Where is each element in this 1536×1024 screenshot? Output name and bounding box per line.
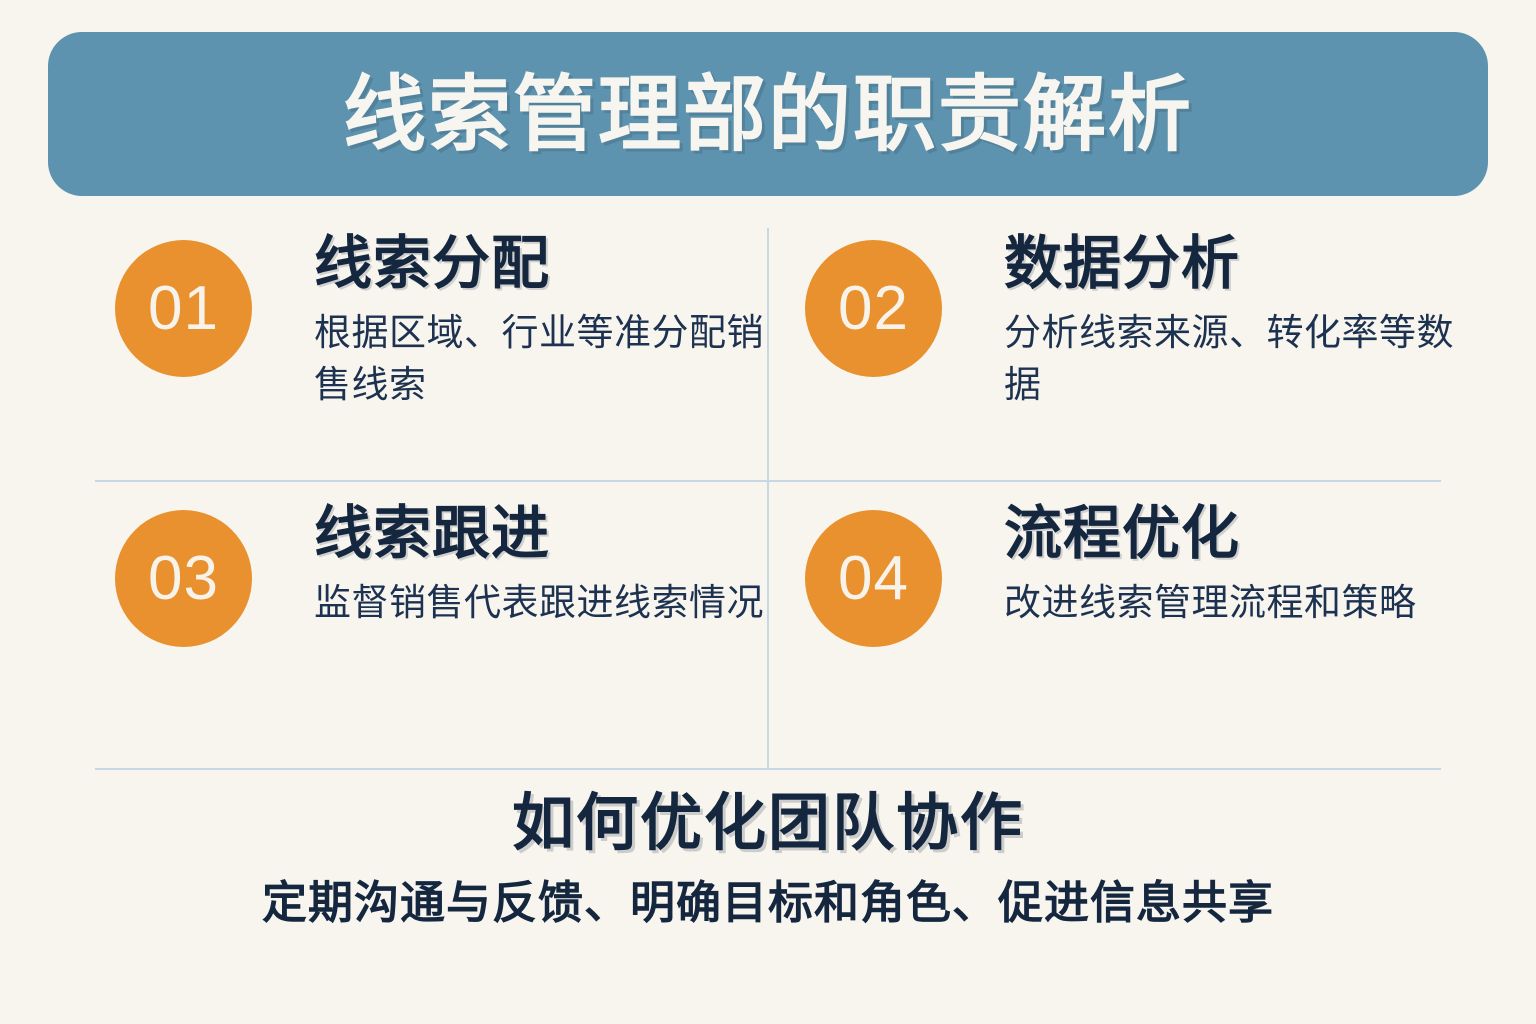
badge-number-label: 01 — [148, 278, 219, 340]
number-badge-04: 04 — [805, 510, 942, 647]
item-text-block: 线索跟进 监督销售代表跟进线索情况 — [314, 500, 764, 629]
divider-vertical — [767, 228, 769, 768]
responsibilities-grid: 01 线索分配 根据区域、行业等准分配销售线索 02 数据分析 分析线索来源、转… — [95, 212, 1441, 770]
number-badge-02: 02 — [805, 240, 942, 377]
item-title: 线索跟进 — [314, 502, 764, 567]
badge-number-label: 03 — [148, 548, 219, 610]
item-description: 分析线索来源、转化率等数据 — [1004, 307, 1454, 412]
infographic-root: 线索管理部的职责解析 01 线索分配 根据区域、行业等准分配销售线索 02 数据… — [0, 0, 1536, 1024]
item-text-block: 数据分析 分析线索来源、转化率等数据 — [1004, 230, 1454, 412]
footer-section: 如何优化团队协作 定期沟通与反馈、明确目标和角色、促进信息共享 — [0, 790, 1536, 930]
item-description: 根据区域、行业等准分配销售线索 — [314, 307, 764, 412]
responsibility-item-04: 04 流程优化 改进线索管理流程和策略 — [805, 500, 1455, 647]
footer-subtitle: 定期沟通与反馈、明确目标和角色、促进信息共享 — [0, 876, 1536, 930]
item-title: 流程优化 — [1004, 502, 1417, 567]
number-badge-01: 01 — [115, 240, 252, 377]
number-badge-03: 03 — [115, 510, 252, 647]
responsibility-item-02: 02 数据分析 分析线索来源、转化率等数据 — [805, 230, 1455, 412]
page-title: 线索管理部的职责解析 — [343, 73, 1193, 156]
responsibility-item-01: 01 线索分配 根据区域、行业等准分配销售线索 — [115, 230, 765, 412]
item-text-block: 线索分配 根据区域、行业等准分配销售线索 — [314, 230, 764, 412]
item-description: 监督销售代表跟进线索情况 — [314, 577, 764, 630]
item-text-block: 流程优化 改进线索管理流程和策略 — [1004, 500, 1417, 629]
badge-number-label: 02 — [838, 278, 909, 340]
item-title: 数据分析 — [1004, 232, 1454, 297]
item-description: 改进线索管理流程和策略 — [1004, 577, 1417, 630]
divider-horizontal-bottom — [95, 768, 1441, 770]
header-banner: 线索管理部的职责解析 — [48, 32, 1488, 196]
item-title: 线索分配 — [314, 232, 764, 297]
divider-horizontal-middle — [95, 480, 1441, 482]
responsibility-item-03: 03 线索跟进 监督销售代表跟进线索情况 — [115, 500, 765, 647]
badge-number-label: 04 — [838, 548, 909, 610]
footer-title: 如何优化团队协作 — [0, 790, 1536, 858]
